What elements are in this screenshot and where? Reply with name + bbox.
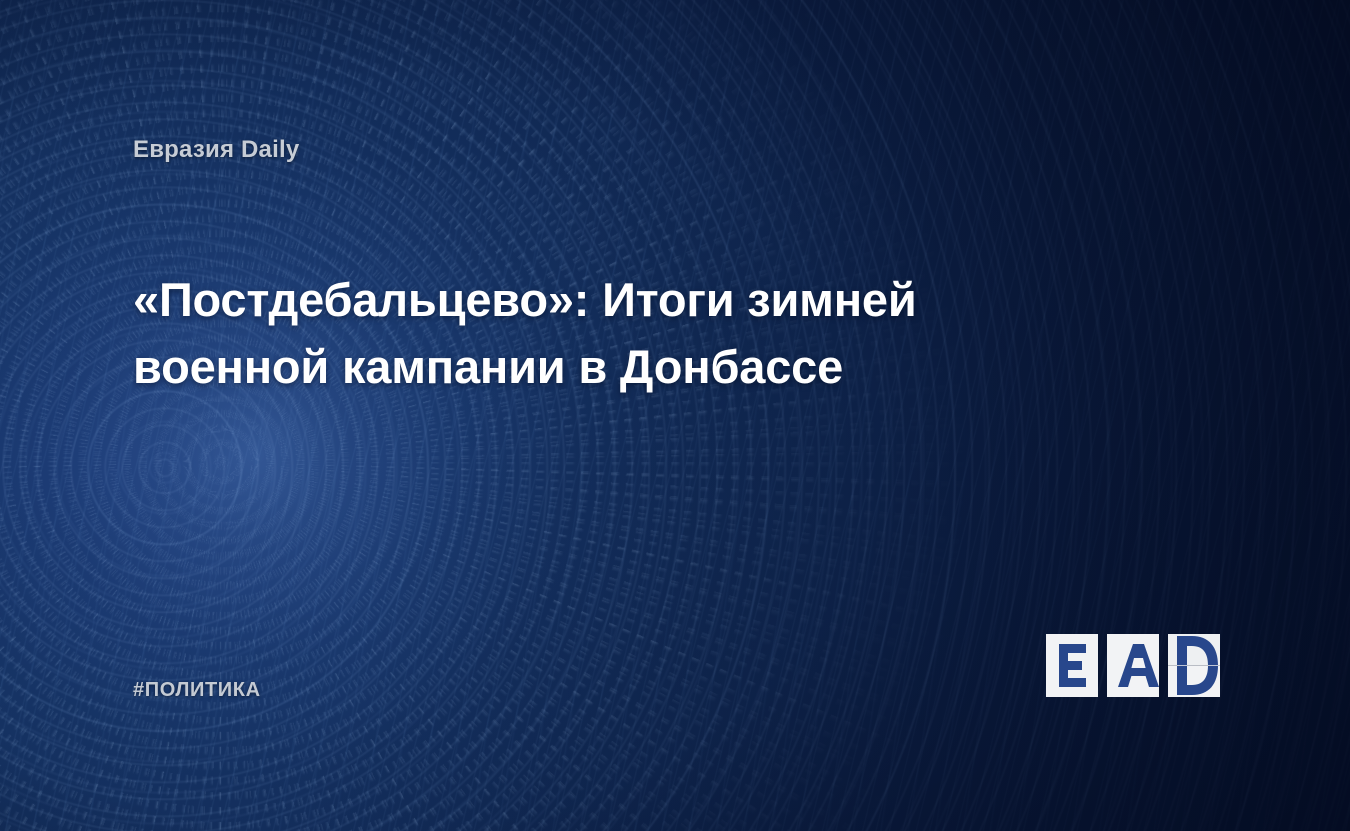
article-cover-card: Евразия Daily «Постдебальцево»: Итоги зи… xyxy=(0,0,1350,831)
category-tag-politika[interactable]: #ПОЛИТИКА xyxy=(133,679,261,702)
eadaily-logo[interactable] xyxy=(1046,634,1221,697)
eadaily-logo-mark xyxy=(1046,634,1221,697)
card-content: Евразия Daily «Постдебальцево»: Итоги зи… xyxy=(0,0,1350,831)
logo-letter-e xyxy=(1059,644,1086,687)
page-title: «Постдебальцево»: Итоги зимней военной к… xyxy=(133,267,1063,400)
site-name: Евразия Daily xyxy=(133,136,299,164)
logo-tile-seam xyxy=(1168,665,1220,666)
